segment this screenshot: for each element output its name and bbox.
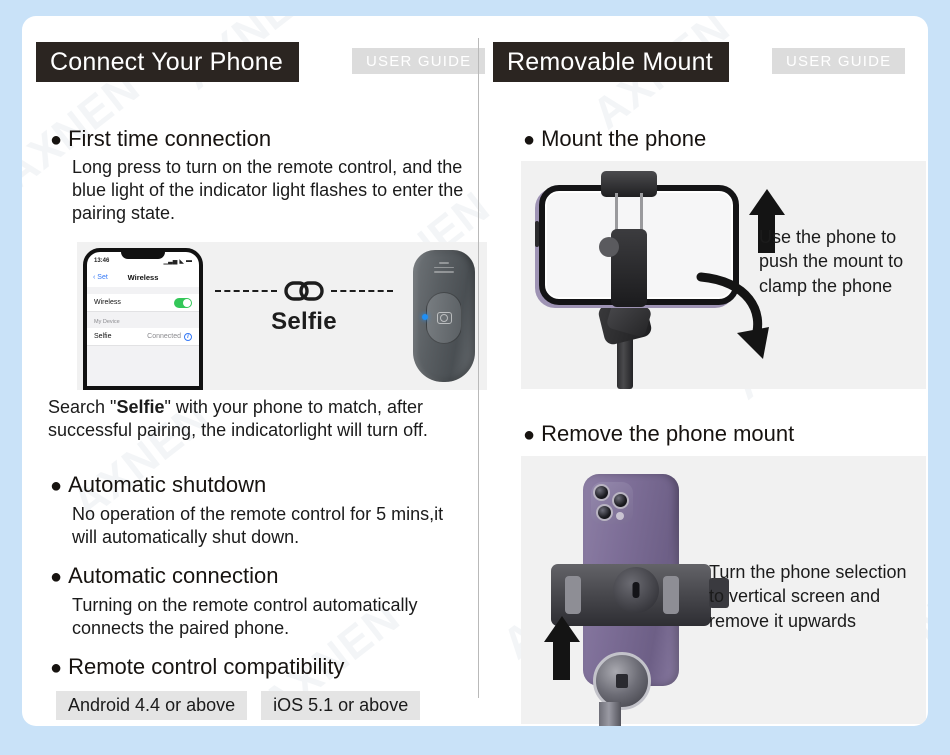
camera-lens-icon <box>596 504 613 521</box>
mount-phone-caption: Use the phone to push the mount to clamp… <box>759 225 919 298</box>
bullet-dot-icon: ● <box>50 567 62 587</box>
battery-icon: ▬ <box>186 258 192 264</box>
remote-control-device <box>413 250 475 382</box>
right-user-guide-badge: USER GUIDE <box>772 48 905 74</box>
camera-lens-icon <box>593 484 610 501</box>
page-root: AXNEN AXNEN AXNEN AXNEN AXNEN AXNEN AXNE… <box>0 0 950 755</box>
bullet-mount-the-phone: ● Mount the phone <box>523 126 706 151</box>
left-section-title: Connect Your Phone <box>50 50 283 75</box>
camera-flash-icon <box>616 512 624 520</box>
clamp-slot-left <box>565 576 581 614</box>
bullet-automatic-shutdown: ● Automatic shutdown <box>50 472 266 497</box>
search-note: Search "Selfie" with your phone to match… <box>48 396 478 442</box>
search-note-prefix: Search " <box>48 397 116 417</box>
info-icon[interactable]: i <box>184 333 192 341</box>
compat-chip-android: Android 4.4 or above <box>56 691 247 720</box>
dashed-line-left <box>215 290 277 292</box>
wireless-row-label: Wireless <box>94 299 121 306</box>
right-section-title: Removable Mount <box>507 50 713 75</box>
clamp-knob <box>599 237 619 257</box>
phone-settings-body: Wireless My Device Selfie Connected i <box>87 287 199 386</box>
left-section-header: Connect Your Phone USER GUIDE <box>22 42 478 82</box>
auto-shutdown-body: No operation of the remote control for 5… <box>72 503 472 549</box>
column-divider <box>478 38 479 698</box>
camera-module <box>591 482 633 524</box>
tripod-shaft <box>599 702 621 726</box>
phone-nav-bar: ‹ Set Wireless <box>87 269 199 286</box>
guide-content: Connect Your Phone USER GUIDE ● First ti… <box>22 16 928 726</box>
guide-card: AXNEN AXNEN AXNEN AXNEN AXNEN AXNEN AXNE… <box>22 16 928 726</box>
bullet-dot-icon: ● <box>523 130 535 150</box>
right-badge-label: USER GUIDE <box>786 53 891 70</box>
device-row-selfie[interactable]: Selfie Connected i <box>87 328 199 346</box>
wifi-icon: ◣ <box>179 258 184 265</box>
pairing-device-label: Selfie <box>215 308 393 336</box>
arrow-up-icon <box>551 616 573 680</box>
bullet-first-time-label: First time connection <box>68 126 271 151</box>
pairing-illustration-panel: 13:46 ▁▃▅ ◣ ▬ ‹ Set Wireless <box>77 242 487 390</box>
dashed-line-right <box>331 290 393 292</box>
first-time-body: Long press to turn on the remote control… <box>72 156 472 225</box>
bullet-dot-icon: ● <box>50 476 62 496</box>
bullet-remove-phone-mount: ● Remove the phone mount <box>523 421 794 446</box>
bullet-first-time-connection: ● First time connection <box>50 126 271 151</box>
phone-side-button <box>535 221 539 247</box>
device-name-label: Selfie <box>94 333 112 340</box>
remote-speaker-lines <box>434 262 454 276</box>
phone-nav-title: Wireless <box>87 273 199 282</box>
camera-icon <box>437 312 452 324</box>
clamp-rotation-hub <box>613 567 659 613</box>
mount-phone-illustration: Use the phone to push the mount to clamp… <box>521 161 926 389</box>
my-device-section-label: My Device <box>87 312 199 328</box>
bullet-mount-label: Mount the phone <box>541 126 706 151</box>
left-badge-label: USER GUIDE <box>366 53 471 70</box>
remote-shutter-button[interactable] <box>426 292 462 344</box>
link-row <box>215 278 393 304</box>
indicator-led-icon <box>422 314 428 320</box>
wireless-toggle-switch[interactable] <box>174 298 192 308</box>
phone-clamp-horizontal <box>609 171 649 311</box>
device-status-group: Connected i <box>147 333 192 341</box>
bullet-auto-shutdown-label: Automatic shutdown <box>68 472 266 497</box>
status-icons: ▁▃▅ ◣ ▬ <box>164 258 192 265</box>
left-column: Connect Your Phone USER GUIDE ● First ti… <box>22 16 478 726</box>
left-title-bar: Connect Your Phone <box>36 42 299 82</box>
remove-mount-illustration: Turn the phone selection to vertical scr… <box>521 456 926 724</box>
bullet-auto-connection-label: Automatic connection <box>68 563 278 588</box>
auto-connection-body: Turning on the remote control automatica… <box>72 594 482 640</box>
camera-lens-icon <box>612 492 629 509</box>
compat-chip-ios: iOS 5.1 or above <box>261 691 420 720</box>
wireless-toggle-row[interactable]: Wireless <box>87 294 199 312</box>
chain-link-icon <box>281 278 327 304</box>
signal-icon: ▁▃▅ <box>164 258 178 265</box>
bullet-remote-compatibility: ● Remote control compatibility <box>50 654 344 679</box>
right-title-bar: Removable Mount <box>493 42 729 82</box>
device-status-label: Connected <box>147 333 181 340</box>
remove-mount-caption: Turn the phone selection to vertical scr… <box>709 560 919 633</box>
search-note-bold: Selfie <box>116 397 164 417</box>
phone-screenshot: 13:46 ▁▃▅ ◣ ▬ ‹ Set Wireless <box>83 248 203 390</box>
compatibility-chips: Android 4.4 or above iOS 5.1 or above <box>56 691 420 720</box>
bullet-dot-icon: ● <box>50 658 62 678</box>
bullet-dot-icon: ● <box>50 130 62 150</box>
right-section-header: Removable Mount USER GUIDE <box>479 42 928 82</box>
status-time: 13:46 <box>94 258 109 264</box>
bullet-remove-label: Remove the phone mount <box>541 421 794 446</box>
bullet-compatibility-label: Remote control compatibility <box>68 654 344 679</box>
right-column: Removable Mount USER GUIDE ● Mount the p… <box>479 16 928 726</box>
bullet-dot-icon: ● <box>523 425 535 445</box>
bullet-automatic-connection: ● Automatic connection <box>50 563 278 588</box>
pairing-link-group: Selfie <box>215 278 393 336</box>
clamp-slot-right <box>663 576 679 614</box>
phone-status-bar: 13:46 ▁▃▅ ◣ ▬ <box>87 255 199 267</box>
left-user-guide-badge: USER GUIDE <box>352 48 485 74</box>
